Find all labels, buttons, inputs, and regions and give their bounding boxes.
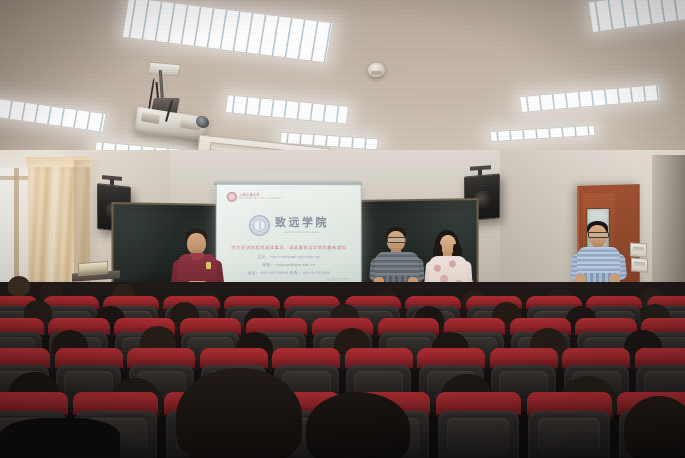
auditorium-seat[interactable] [525,392,614,458]
zhiyuan-college-emblem-icon [249,215,270,236]
projection-screen: 上海交通大学 SHANGHAI JIAO TONG UNIVERSITY 致远学… [216,184,362,290]
smoke-detector-icon [368,63,385,77]
stack-of-books [78,261,108,277]
sjtu-seal-icon [227,192,237,202]
foreground-student-hair [624,396,685,458]
foreground-student-hair [306,392,410,458]
slide-title: 致远学院 [275,217,329,228]
auditorium-seat[interactable] [434,392,523,458]
slide-title-en: ZHIYUAN COLLEGE [275,230,329,233]
glasses-icon [387,237,407,243]
light-switch[interactable] [630,242,647,257]
classroom-photo: 上海交通大学 SHANGHAI JIAO TONG UNIVERSITY 致远学… [0,0,685,458]
glasses-icon [588,232,609,238]
slide-headline-block: 致远学院 ZHIYUAN COLLEGE [221,215,357,236]
sjtu-logo: 上海交通大学 SHANGHAI JIAO TONG UNIVERSITY [227,192,282,202]
foreground-student-hair [176,368,302,458]
student-head [8,276,30,296]
slide-contact-line: 邮箱： zhiyuan@sjtu.edu.cn [229,263,349,268]
slide-footer: 上海交通大学致远学院 [325,277,349,281]
sjtu-logo-en: SHANGHAI JIAO TONG UNIVERSITY [239,197,282,199]
slide-contact-line: 主页： http://zhiyuan.sjtu.edu.cn/ [229,255,349,260]
foreground-student-shoulder [0,418,120,458]
slide-red-headline: 招生宣讲的相关具体事项、请留意致远学院的最新通知 [229,245,349,251]
name-badge [206,262,211,269]
slide-contact-line: 电话： 021-54743949 传真： 021-54743165 [229,271,349,276]
light-switch[interactable] [631,257,648,272]
